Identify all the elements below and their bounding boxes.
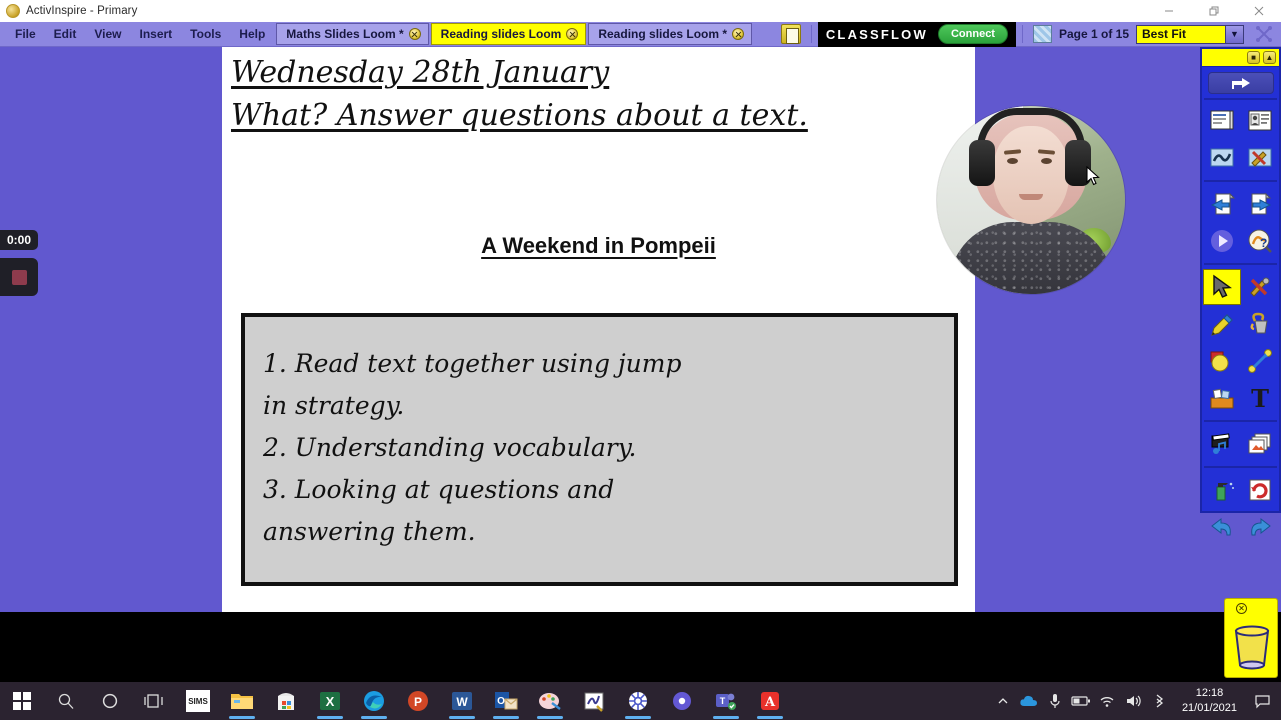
window-title-bar: ActivInspire - Primary [0, 0, 1281, 22]
file-explorer-icon[interactable] [220, 682, 264, 720]
window-controls [1146, 0, 1281, 22]
redo-icon[interactable] [1241, 509, 1279, 545]
instructions-box: 1. Read text together using jump in stra… [241, 313, 958, 586]
recording-stop-button[interactable] [0, 258, 38, 296]
menu-bar: File Edit View Insert Tools Help Maths S… [0, 22, 1281, 47]
menu-item-insert[interactable]: Insert [130, 22, 181, 47]
windows-taskbar: SIMS X [0, 682, 1281, 720]
activinspire-icon[interactable] [572, 682, 616, 720]
menu-item-help[interactable]: Help [230, 22, 274, 47]
edge-icon[interactable] [352, 682, 396, 720]
cortana-icon[interactable] [88, 682, 132, 720]
svg-text:W: W [456, 695, 468, 709]
menu-items: File Edit View Insert Tools Help [0, 22, 274, 47]
flipchart-preview-icon[interactable] [1203, 140, 1241, 176]
tab-label: Maths Slides Loom * [286, 27, 403, 41]
microsoft-store-icon[interactable] [264, 682, 308, 720]
search-icon[interactable] [44, 682, 88, 720]
resource-browser-icon[interactable] [1203, 380, 1241, 416]
headline-line-2: What? Answer questions about a text. [231, 95, 975, 138]
restore-icon[interactable] [1191, 0, 1236, 22]
chevron-up-icon[interactable] [990, 682, 1016, 720]
text-tool-icon[interactable]: T [1241, 380, 1279, 416]
zoom-select[interactable]: Best Fit ▼ [1136, 25, 1244, 44]
mouse-cursor [1086, 166, 1100, 186]
svg-text:SIMS: SIMS [188, 697, 208, 706]
pen-icon[interactable] [1203, 306, 1241, 342]
svg-text:T: T [1251, 386, 1269, 410]
classflow-logo: CLASSFLOW [826, 27, 928, 42]
instruction-line-4: 3. Looking at questions and [263, 469, 932, 511]
loom-icon[interactable] [660, 682, 704, 720]
profile-card-icon[interactable] [1241, 103, 1279, 139]
microphone-icon[interactable] [1042, 682, 1068, 720]
fullscreen-icon[interactable] [1254, 24, 1274, 44]
bluetooth-icon[interactable] [1146, 682, 1172, 720]
volume-icon[interactable] [1120, 682, 1146, 720]
activinspire-primary-icon[interactable] [616, 682, 660, 720]
teams-icon[interactable]: T [704, 682, 748, 720]
tab-label: Reading slides Loom * [598, 27, 727, 41]
close-icon[interactable] [566, 28, 578, 40]
onedrive-icon[interactable] [1016, 682, 1042, 720]
divider [1204, 98, 1277, 100]
paint-icon[interactable] [528, 682, 572, 720]
divider [1204, 466, 1277, 468]
svg-text:T: T [720, 696, 726, 706]
avatar-eye-right [1041, 158, 1052, 164]
menu-item-tools[interactable]: Tools [181, 22, 230, 47]
divider [1204, 263, 1277, 265]
clock-date: 21/01/2021 [1182, 701, 1237, 716]
instructions-list: 1. Read text together using jump in stra… [245, 317, 954, 553]
svg-text:A: A [764, 695, 776, 710]
svg-text:P: P [414, 695, 422, 709]
palette-header: ■ ▲ [1202, 49, 1279, 67]
close-icon[interactable] [1236, 0, 1281, 22]
divider [1204, 180, 1277, 182]
outlook-icon[interactable]: O [484, 682, 528, 720]
menu-item-file[interactable]: File [6, 22, 45, 47]
tool-palette: ■ ▲ [1200, 47, 1281, 513]
stop-square-icon [12, 270, 27, 285]
play-icon[interactable] [1203, 223, 1241, 259]
pin-icon[interactable]: ■ [1247, 51, 1260, 64]
undo-icon[interactable] [1203, 509, 1241, 545]
close-icon[interactable] [409, 28, 421, 40]
classflow-connect-button[interactable]: Connect [938, 24, 1008, 44]
select-pointer-icon[interactable] [1203, 269, 1241, 305]
shapes-icon[interactable] [1203, 343, 1241, 379]
bin-widget[interactable]: ✕ [1224, 598, 1278, 678]
share-icon[interactable] [1208, 72, 1274, 94]
instruction-line-1: 1. Read text together using jump [263, 343, 932, 385]
acrobat-icon[interactable]: A [748, 682, 792, 720]
collapse-icon[interactable]: ▲ [1263, 51, 1276, 64]
media-icon[interactable] [1203, 426, 1241, 462]
recording-timer: 0:00 [0, 230, 38, 250]
word-icon[interactable]: W [440, 682, 484, 720]
clock[interactable]: 12:18 21/01/2021 [1172, 686, 1247, 716]
previous-page-icon[interactable] [1203, 186, 1241, 222]
fill-bucket-icon[interactable] [1241, 306, 1279, 342]
chevron-down-icon[interactable]: ▼ [1225, 26, 1243, 43]
start-button[interactable] [0, 682, 44, 720]
instruction-line-3: 2. Understanding vocabulary. [263, 427, 932, 469]
menu-item-view[interactable]: View [85, 22, 130, 47]
tools-icon[interactable] [1241, 269, 1279, 305]
system-tray: 12:18 21/01/2021 [990, 682, 1281, 720]
eraser-spray-icon[interactable] [1203, 472, 1241, 508]
document-tabs: Maths Slides Loom * Reading slides Loom … [276, 22, 754, 47]
headline-line-1: Wednesday 28th January [231, 52, 975, 95]
tab-maths-slides-loom[interactable]: Maths Slides Loom * [276, 23, 428, 45]
classflow-bar: CLASSFLOW Connect [818, 22, 1016, 47]
sims-app-icon[interactable]: SIMS [176, 682, 220, 720]
task-view-icon[interactable] [132, 682, 176, 720]
instruction-line-2: in strategy. [263, 385, 932, 427]
powerpoint-icon[interactable]: P [396, 682, 440, 720]
magic-ink-icon[interactable]: ? [1241, 223, 1279, 259]
close-icon[interactable]: ✕ [1236, 603, 1247, 614]
battery-icon[interactable] [1068, 682, 1094, 720]
notifications-icon[interactable] [1247, 682, 1277, 720]
page-thumbnail-icon[interactable] [1033, 25, 1052, 43]
divider [1204, 420, 1277, 422]
wifi-icon[interactable] [1094, 682, 1120, 720]
slide-subtitle: A Weekend in Pompeii [222, 233, 975, 259]
excel-icon[interactable]: X [308, 682, 352, 720]
tab-reading-slides-loom-2[interactable]: Reading slides Loom * [588, 23, 752, 45]
page-properties-icon[interactable] [1203, 103, 1241, 139]
menu-item-edit[interactable]: Edit [45, 22, 86, 47]
zoom-value: Best Fit [1142, 27, 1186, 41]
instruction-line-5: answering them. [263, 511, 932, 553]
svg-text:X: X [326, 694, 335, 709]
headphone-cup-left [969, 140, 995, 186]
window-title: ActivInspire - Primary [26, 5, 137, 17]
reset-page-icon[interactable] [1241, 472, 1279, 508]
slide-headline: Wednesday 28th January What? Answer ques… [231, 52, 975, 137]
tab-label: Reading slides Loom [441, 27, 562, 41]
page-navigation: Page 1 of 15 Best Fit ▼ [1029, 24, 1281, 44]
connector-icon[interactable] [1241, 343, 1279, 379]
avatar-mouth [1019, 194, 1043, 200]
design-tools-icon[interactable] [1241, 140, 1279, 176]
svg-text:O: O [497, 696, 505, 707]
avatar-eye-left [1007, 158, 1018, 164]
webcam-bubble[interactable] [937, 106, 1125, 294]
palette-tools: ? [1202, 103, 1279, 545]
bin-icon [1230, 623, 1274, 671]
image-stack-icon[interactable] [1241, 426, 1279, 462]
clipboard-icon[interactable] [781, 24, 801, 44]
clock-time: 12:18 [1182, 686, 1237, 701]
divider [811, 25, 812, 43]
page-indicator: Page 1 of 15 [1059, 27, 1129, 41]
divider [1022, 25, 1023, 43]
tab-reading-slides-loom[interactable]: Reading slides Loom [431, 23, 587, 45]
subtitle-text: A Weekend in Pompeii [481, 233, 716, 258]
minimize-icon[interactable] [1146, 0, 1191, 22]
activinspire-icon [6, 4, 20, 18]
screen: ActivInspire - Primary File Edit View In… [0, 0, 1281, 720]
flipchart-page[interactable]: Wednesday 28th January What? Answer ques… [222, 47, 975, 612]
close-icon[interactable] [732, 28, 744, 40]
next-page-icon[interactable] [1241, 186, 1279, 222]
